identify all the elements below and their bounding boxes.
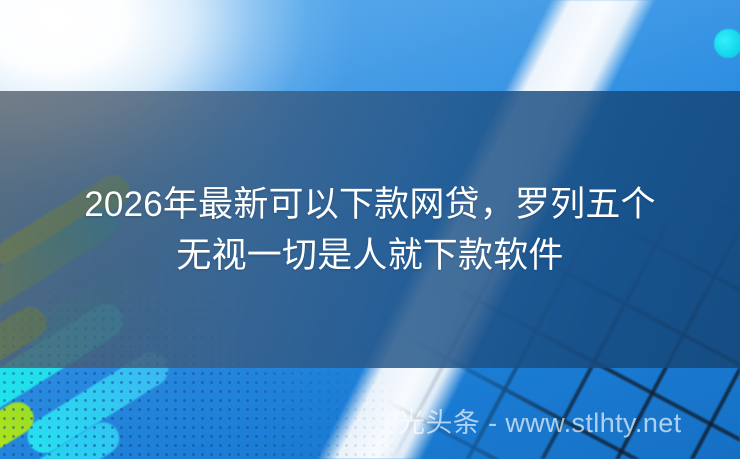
- cyan-dot-accent: [714, 29, 740, 58]
- headline-line-1: 2026年最新可以下款网贷，罗列五个: [84, 179, 655, 230]
- site-watermark: 光头条 - www.stlhty.net: [398, 406, 682, 440]
- headline-block: 2026年最新可以下款网贷，罗列五个 无视一切是人就下款软件: [0, 91, 740, 368]
- banner-image: 2026年最新可以下款网贷，罗列五个 无视一切是人就下款软件 光头条 - www…: [0, 0, 740, 459]
- headline-line-2: 无视一切是人就下款软件: [176, 230, 563, 281]
